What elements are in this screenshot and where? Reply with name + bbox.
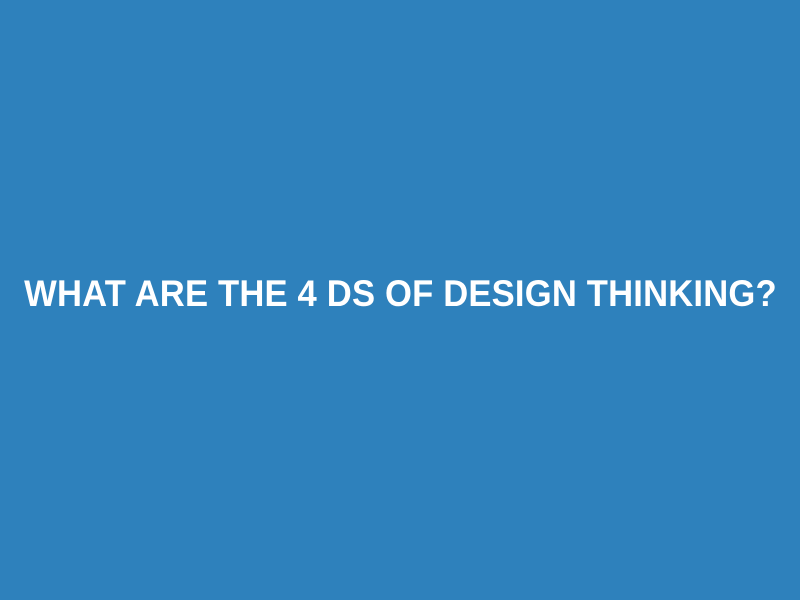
featured-image-banner: WHAT ARE THE 4 DS OF DESIGN THINKING?	[0, 0, 800, 600]
page-title: WHAT ARE THE 4 DS OF DESIGN THINKING?	[24, 272, 777, 316]
headline-block: WHAT ARE THE 4 DS OF DESIGN THINKING?	[0, 268, 800, 320]
